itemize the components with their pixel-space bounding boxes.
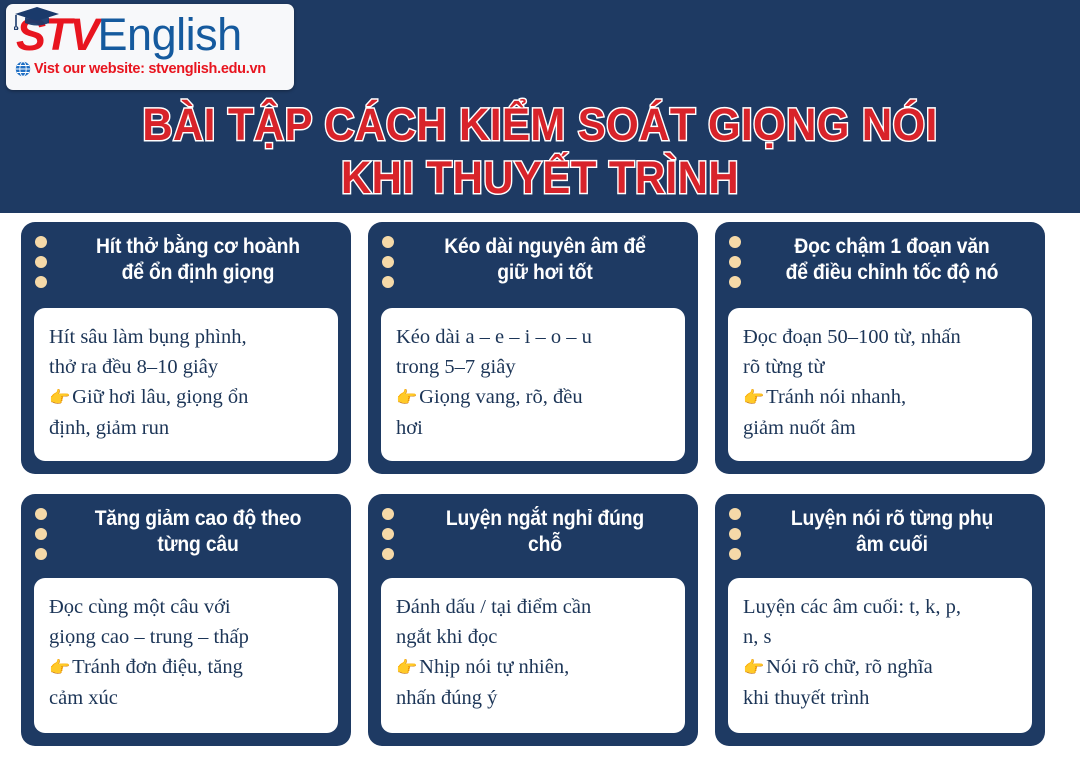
card-title-line-2: giữ hơi tốt: [497, 261, 592, 284]
card-body-line-3-text: Giọng vang, rõ, đều: [419, 386, 582, 408]
card-body-line-3: 👉Nói rõ chữ, rõ nghĩa: [743, 652, 1017, 683]
page-title: BÀI TẬP CÁCH KIỂM SOÁT GIỌNG NÓI KHI THU…: [0, 98, 1080, 204]
title-line-1: BÀI TẬP CÁCH KIỂM SOÁT GIỌNG NÓI: [38, 98, 1042, 151]
card-body-line-3-text: Nói rõ chữ, rõ nghĩa: [766, 656, 933, 678]
pointing-hand-icon: 👉: [743, 658, 764, 678]
card-title: Luyện nói rõ từng phụ âm cuối: [728, 494, 1032, 568]
card-title-line-1: Hít thở bằng cơ hoành: [96, 235, 300, 258]
card-body-line-4: giảm nuốt âm: [743, 413, 1017, 443]
card-title: Kéo dài nguyên âm để giữ hơi tốt: [381, 222, 685, 296]
title-line-2: KHI THUYẾT TRÌNH: [38, 151, 1042, 204]
card-title-line-1: Luyện ngắt nghỉ đúng: [446, 507, 644, 530]
pointing-hand-icon: 👉: [396, 388, 417, 408]
card-body-line-4: cảm xúc: [49, 683, 323, 713]
brand-logo[interactable]: STVEnglish Vist our website: stvenglish.…: [6, 4, 294, 90]
card-body-line-2: thở ra đều 8–10 giây: [49, 352, 323, 382]
card-title: Hít thở bằng cơ hoành để ổn định giọng: [34, 222, 338, 296]
card-body-line-3: 👉Tránh nói nhanh,: [743, 382, 1017, 413]
graduation-cap-icon: [14, 6, 60, 30]
card-body: Hít sâu làm bụng phình, thở ra đều 8–10 …: [34, 308, 338, 461]
card-body-line-1: Kéo dài a – e – i – o – u: [396, 322, 670, 352]
card-body-line-3: 👉Tránh đơn điệu, tăng: [49, 652, 323, 683]
card-title: Đọc chậm 1 đoạn văn để điều chỉnh tốc độ…: [728, 222, 1032, 296]
card-title: Tăng giảm cao độ theo từng câu: [34, 494, 338, 568]
pointing-hand-icon: 👉: [49, 388, 70, 408]
card-title-line-1: Đọc chậm 1 đoạn văn: [794, 235, 989, 258]
logo-english-text: English: [98, 9, 242, 60]
card-body: Đọc đoạn 50–100 từ, nhấn rõ từng từ 👉Trá…: [728, 308, 1032, 461]
card-body-line-4: nhấn đúng ý: [396, 683, 670, 713]
pointing-hand-icon: 👉: [743, 388, 764, 408]
globe-icon: [15, 61, 31, 77]
website-label: Vist our website: stvenglish.edu.vn: [34, 61, 266, 77]
card-title-line-1: Luyện nói rõ từng phụ: [791, 507, 993, 530]
card-body-line-4: hơi: [396, 413, 670, 443]
exercise-card-6[interactable]: Luyện nói rõ từng phụ âm cuối Luyện các …: [715, 494, 1045, 746]
card-body-line-3: 👉Nhịp nói tự nhiên,: [396, 652, 670, 683]
exercise-card-1[interactable]: Hít thở bằng cơ hoành để ổn định giọng H…: [21, 222, 351, 474]
card-body-line-3-text: Tránh đơn điệu, tăng: [72, 656, 243, 678]
card-body-line-4: khi thuyết trình: [743, 683, 1017, 713]
card-body-line-3-text: Giữ hơi lâu, giọng ổn: [72, 386, 248, 408]
card-body-line-1: Đọc đoạn 50–100 từ, nhấn: [743, 322, 1017, 352]
card-title-line-2: để ổn định giọng: [122, 261, 275, 284]
exercise-card-2[interactable]: Kéo dài nguyên âm để giữ hơi tốt Kéo dài…: [368, 222, 698, 474]
card-body-line-3: 👉Giữ hơi lâu, giọng ổn: [49, 382, 323, 413]
card-body-line-1: Hít sâu làm bụng phình,: [49, 322, 323, 352]
card-title-line-2: âm cuối: [856, 533, 928, 556]
card-title: Luyện ngắt nghỉ đúng chỗ: [381, 494, 685, 568]
exercise-card-5[interactable]: Luyện ngắt nghỉ đúng chỗ Đánh dấu / tại …: [368, 494, 698, 746]
exercise-card-3[interactable]: Đọc chậm 1 đoạn văn để điều chỉnh tốc độ…: [715, 222, 1045, 474]
card-body-line-4: định, giảm run: [49, 413, 323, 443]
card-body-line-1: Đọc cùng một câu với: [49, 592, 323, 622]
card-title-line-1: Tăng giảm cao độ theo: [95, 507, 302, 530]
card-body: Đọc cùng một câu với giọng cao – trung –…: [34, 578, 338, 733]
card-body-line-2: trong 5–7 giây: [396, 352, 670, 382]
card-title-line-1: Kéo dài nguyên âm để: [444, 235, 645, 258]
card-body-line-2: n, s: [743, 622, 1017, 652]
card-body: Luyện các âm cuối: t, k, p, n, s 👉Nói rõ…: [728, 578, 1032, 733]
card-body-line-3: 👉Giọng vang, rõ, đều: [396, 382, 670, 413]
pointing-hand-icon: 👉: [396, 658, 417, 678]
header-band: STVEnglish Vist our website: stvenglish.…: [0, 0, 1080, 213]
card-title-line-2: từng câu: [157, 533, 238, 556]
card-body-line-2: giọng cao – trung – thấp: [49, 622, 323, 652]
pointing-hand-icon: 👉: [49, 658, 70, 678]
card-body: Kéo dài a – e – i – o – u trong 5–7 giây…: [381, 308, 685, 461]
card-body-line-1: Luyện các âm cuối: t, k, p,: [743, 592, 1017, 622]
website-line[interactable]: Vist our website: stvenglish.edu.vn: [15, 61, 266, 77]
card-title-line-2: để điều chỉnh tốc độ nó: [786, 261, 999, 284]
card-body-line-3-text: Nhịp nói tự nhiên,: [419, 656, 569, 678]
card-body-line-2: ngắt khi đọc: [396, 622, 670, 652]
exercise-card-4[interactable]: Tăng giảm cao độ theo từng câu Đọc cùng …: [21, 494, 351, 746]
card-title-line-2: chỗ: [528, 533, 562, 556]
card-body-line-2: rõ từng từ: [743, 352, 1017, 382]
card-body-line-3-text: Tránh nói nhanh,: [766, 386, 906, 408]
card-body: Đánh dấu / tại điểm cần ngắt khi đọc 👉Nh…: [381, 578, 685, 733]
card-body-line-1: Đánh dấu / tại điểm cần: [396, 592, 670, 622]
exercise-card-grid: Hít thở bằng cơ hoành để ổn định giọng H…: [0, 213, 1080, 760]
